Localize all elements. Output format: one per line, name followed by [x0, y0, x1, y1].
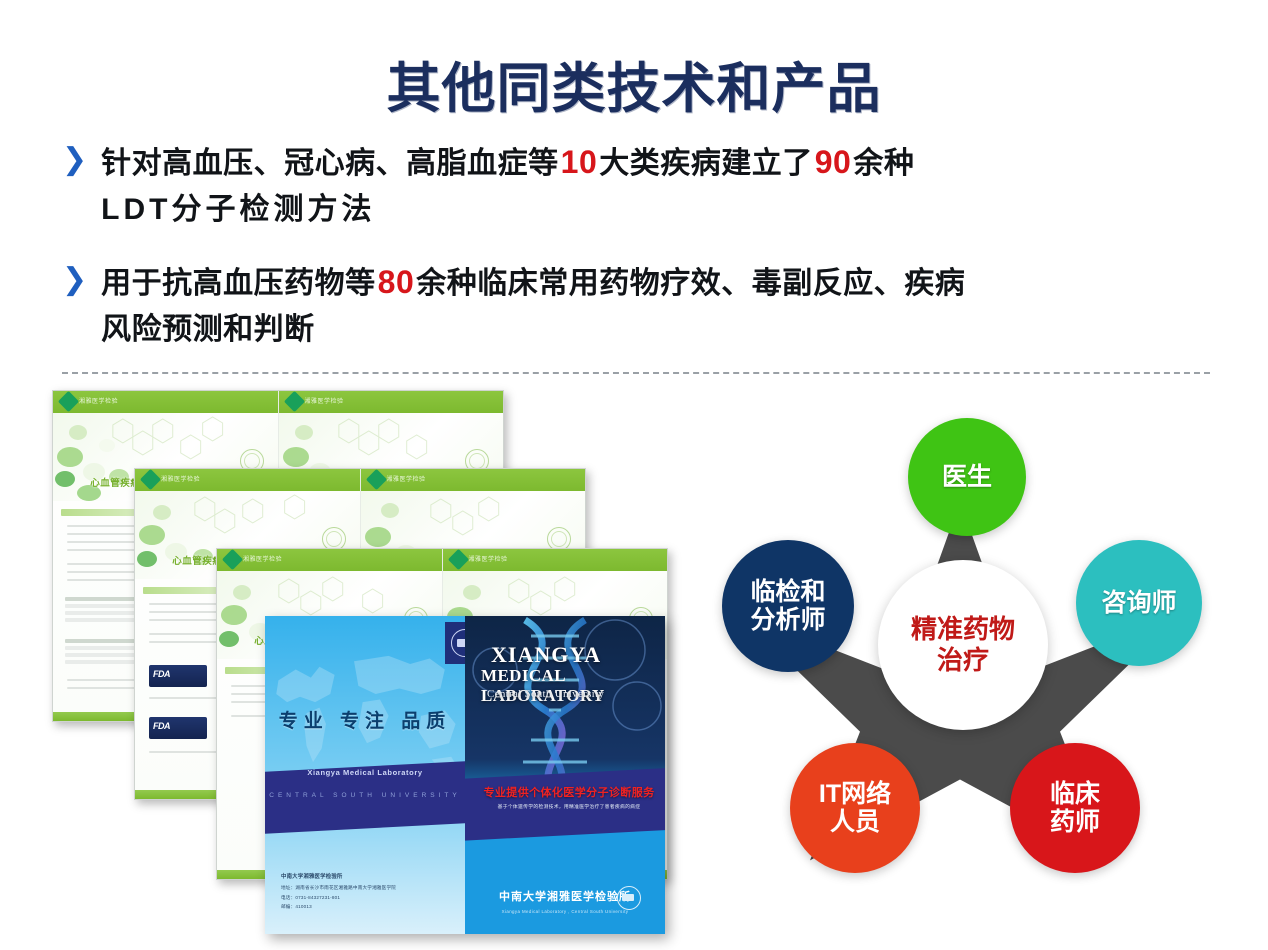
report-logo-text: 湘雅医学检验 [469, 554, 508, 563]
star-node-it-staff-label-line1: IT网络 [819, 780, 891, 808]
star-node-clinical-pharmacist-label-line2: 药师 [1050, 808, 1100, 836]
bullet-1-seg-1: 针对高血压、冠心病、高脂血症等 [101, 147, 559, 180]
brochure-contact-line-3: 邮编：410013 [281, 904, 312, 909]
star-node-lab-analyst-label-line1: 临检和 [750, 578, 825, 606]
bullet-1-seg-5: 余种 [853, 147, 914, 180]
star-node-doctor-label: 医生 [942, 463, 992, 491]
report-logo-text: 湘雅医学检验 [161, 474, 200, 483]
star-center-node: 精准药物 治疗 [878, 560, 1048, 730]
star-node-consultant[interactable]: 咨询师 [1076, 540, 1202, 666]
bullet-item-2-text: 用于抗高血压药物等80余种临床常用药物疗效、毒副反应、疾病 风险预测和判断 [101, 258, 965, 352]
bullet-list: ❯ 针对高血压、冠心病、高脂血症等10大类疾病建立了90余种 LDT分子检测方法… [62, 138, 1212, 378]
brochure-band-subtext: CENTRAL SOUTH UNIVERSITY [265, 792, 465, 799]
star-node-clinical-pharmacist-label-line1: 临床 [1050, 780, 1100, 808]
brochure-front-cover: XIANGYA MEDICAL LABORATORY Central South… [465, 616, 665, 934]
report-document-stack: 湘雅医学检验 [48, 388, 678, 938]
bullet-1-line2: LDT分子检测方法 [101, 193, 375, 226]
star-node-clinical-pharmacist[interactable]: 临床 药师 [1010, 743, 1140, 873]
brochure-red-subtagline: 基于个体遗传学的检测技术，用精准医学治疗了患者疾病的病症 [469, 803, 665, 810]
report-logo-text: 湘雅医学检验 [305, 396, 344, 405]
lab-brochure-cover: 专业 专注 品质 Xiangya Medical Laboratory CENT… [265, 616, 665, 934]
star-center-label-line2: 治疗 [911, 645, 1015, 676]
chevron-double-right-icon: ❯ [62, 265, 87, 295]
star-center-label-line1: 精准药物 [911, 614, 1015, 645]
brochure-en-line-1: XIANGYA [491, 642, 601, 668]
slide-canvas: 其他同类技术和产品 ❯ 针对高血压、冠心病、高脂血症等10大类疾病建立了90余种… [0, 0, 1268, 950]
section-divider [62, 372, 1210, 374]
bullet-item-1: ❯ 针对高血压、冠心病、高脂血症等10大类疾病建立了90余种 LDT分子检测方法 [62, 138, 1212, 232]
chevron-double-right-icon: ❯ [62, 145, 87, 175]
brochure-org-logo-icon [617, 886, 641, 910]
precision-medicine-star-diagram: 精准药物 治疗 医生 咨询师 临检和 分析师 IT网络 人员 [700, 408, 1220, 913]
bullet-1-seg-3: 大类疾病建立了 [599, 147, 813, 180]
star-node-lab-analyst-label-line2: 分析师 [750, 606, 825, 634]
brochure-back-cover: 专业 专注 品质 Xiangya Medical Laboratory CENT… [265, 616, 465, 934]
star-node-consultant-label: 咨询师 [1101, 589, 1176, 617]
report-logo-text: 湘雅医学检验 [387, 474, 426, 483]
brochure-en-line-3: Central South University [487, 688, 604, 700]
bullet-item-2: ❯ 用于抗高血压药物等80余种临床常用药物疗效、毒副反应、疾病 风险预测和判断 [62, 258, 1212, 352]
bullet-item-1-text: 针对高血压、冠心病、高脂血症等10大类疾病建立了90余种 LDT分子检测方法 [101, 138, 914, 232]
brochure-contact-line-2: 电话：0731-84327231-801 [281, 895, 340, 900]
brochure-seal-badge-icon [445, 622, 465, 664]
bullet-2-highlight-80: 80 [376, 264, 417, 300]
brochure-band-text: Xiangya Medical Laboratory [265, 768, 465, 777]
bullet-1-highlight-10: 10 [559, 144, 600, 180]
brochure-red-tagline: 专业提供个体化医学分子诊断服务 [469, 784, 665, 800]
brochure-contact-title: 中南大学湘雅医学检验所 [281, 874, 343, 880]
bullet-2-seg-1: 用于抗高血压药物等 [101, 267, 376, 300]
fda-logo-icon: FDA [149, 665, 207, 687]
star-node-doctor[interactable]: 医生 [908, 418, 1026, 536]
bullet-2-line2: 风险预测和判断 [101, 313, 315, 346]
report-logo-text: 湘雅医学检验 [79, 396, 118, 405]
brochure-en-line-2: MEDICAL LABORATORY [481, 666, 665, 706]
page-title: 其他同类技术和产品 [0, 44, 1268, 123]
report-logo-text: 湘雅医学检验 [243, 554, 282, 563]
brochure-contact-block: 中南大学湘雅医学检验所 地址：湖南省长沙市雨花区湘雅路中南大学湘雅医学院 电话：… [281, 872, 396, 912]
star-node-it-staff[interactable]: IT网络 人员 [790, 743, 920, 873]
star-node-lab-analyst[interactable]: 临检和 分析师 [722, 540, 854, 672]
brochure-org-name-en: Xiangya Medical Laboratory , Central Sou… [465, 909, 665, 914]
brochure-contact-line-1: 地址：湖南省长沙市雨花区湘雅路中南大学湘雅医学院 [281, 885, 396, 890]
star-node-it-staff-label-line2: 人员 [819, 808, 891, 836]
bullet-1-highlight-90: 90 [813, 144, 854, 180]
bullet-2-seg-3: 余种临床常用药物疗效、毒副反应、疾病 [416, 267, 965, 300]
brochure-slogan: 专业 专注 品质 [265, 706, 465, 733]
fda-logo-icon: FDA [149, 717, 207, 739]
